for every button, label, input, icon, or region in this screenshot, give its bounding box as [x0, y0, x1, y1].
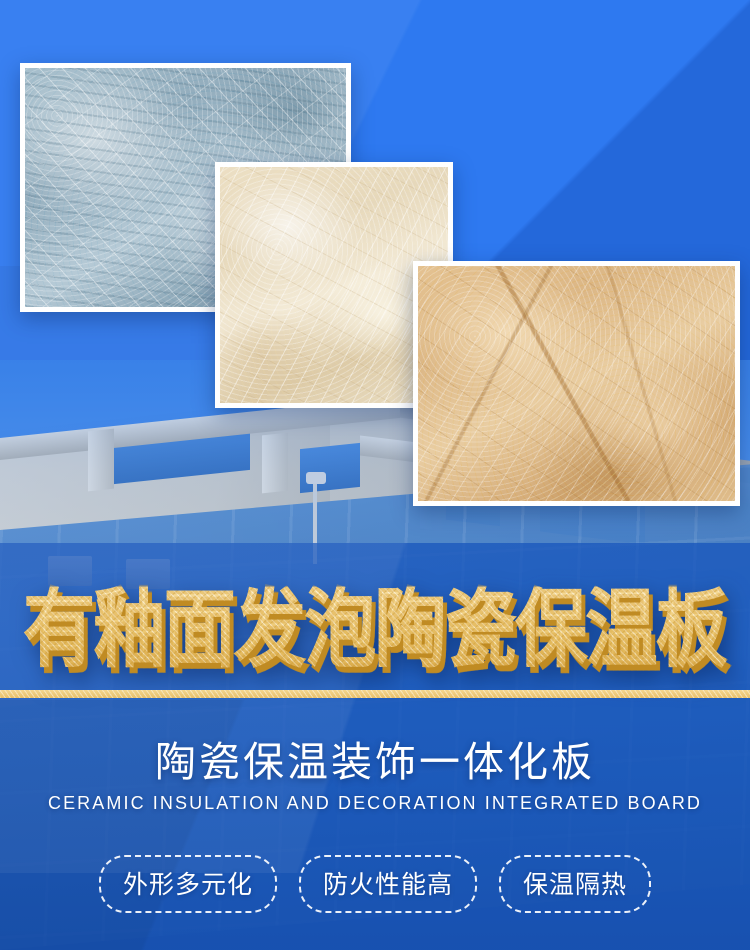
feature-badge-thermal-insulation[interactable]: 保温隔热	[499, 855, 651, 913]
subtitle-english: CERAMIC INSULATION AND DECORATION INTEGR…	[0, 793, 750, 814]
tile-panel-amber-marble	[413, 261, 740, 506]
gold-divider-rule	[0, 690, 750, 698]
feature-badge-list: 外形多元化 防火性能高 保温隔热	[0, 855, 750, 913]
subtitle-chinese: 陶瓷保温装饰一体化板	[0, 728, 750, 788]
tile-grain	[418, 266, 735, 501]
feature-badge-shape-variety[interactable]: 外形多元化	[99, 855, 277, 913]
headline-text: 有釉面发泡陶瓷保温板	[24, 587, 727, 672]
product-banner: 有釉面发泡陶瓷保温板 陶瓷保温装饰一体化板 CERAMIC INSULATION…	[0, 0, 750, 950]
feature-badge-fire-resistance[interactable]: 防火性能高	[299, 855, 477, 913]
headline-container: 有釉面发泡陶瓷保温板	[0, 583, 750, 675]
